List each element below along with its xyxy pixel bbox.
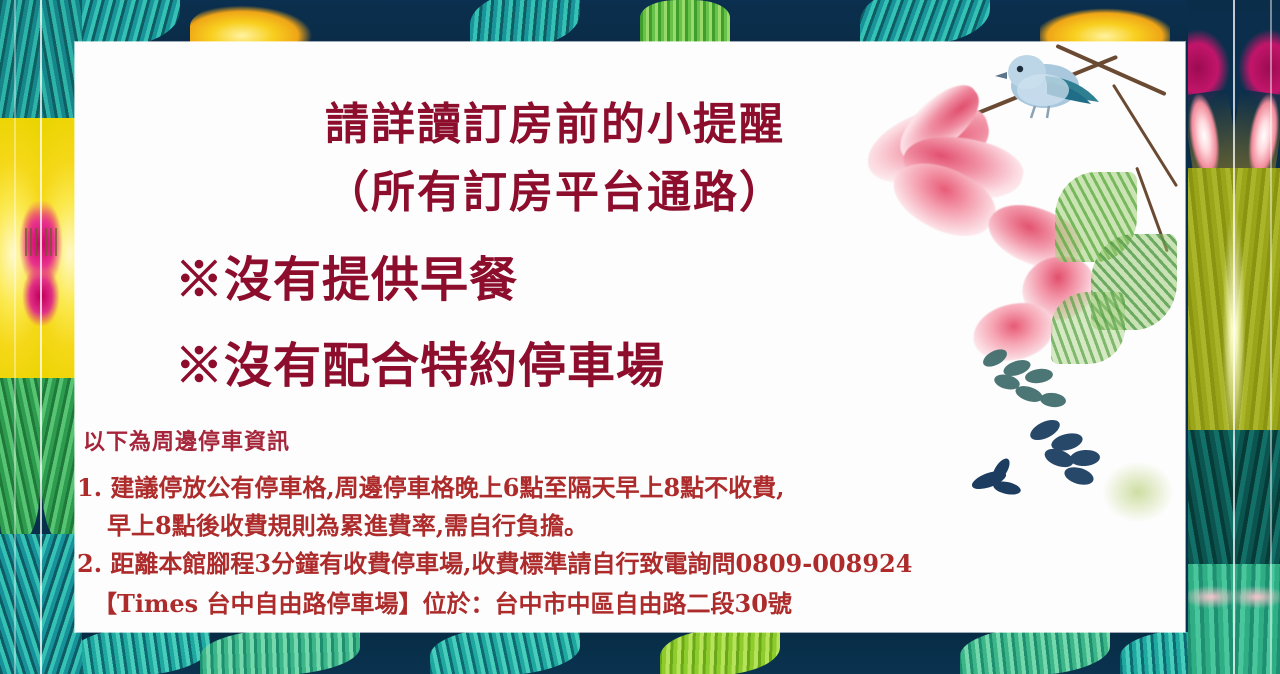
mirror-seam [1270, 0, 1272, 674]
dark-fern-icon [1188, 430, 1234, 580]
notice-card: 請詳讀訂房前的小提醒 （所有訂房平台通路） ※沒有提供早餐 ※沒有配合特約停車場… [75, 42, 1185, 632]
mirror-seam [1233, 0, 1235, 674]
foliage-icon [1051, 292, 1125, 364]
background-band-bottom [0, 632, 1280, 674]
palm-frond-icon [200, 632, 360, 674]
green-leaf-icon [1234, 564, 1280, 674]
palm-frond-icon [470, 0, 580, 44]
palm-frond-icon [660, 632, 780, 674]
yellow-flower-icon [0, 118, 41, 380]
background-band-top [0, 0, 1280, 44]
right-column-half-mirrored [1234, 0, 1280, 674]
parking-note-1-line-2: 早上8點後收費規則為累進費率,需自行負擔。 [107, 506, 588, 541]
foliage-icon [1103, 462, 1173, 522]
olive-leaf-icon [1188, 168, 1234, 438]
fern-leaf-icon [967, 342, 1117, 502]
mirror-seam [14, 0, 16, 674]
olive-leaf-icon [1234, 168, 1280, 438]
palm-frond-icon [0, 0, 41, 122]
parking-note-1-line-1: 1. 建議停放公有停車格,周邊停車格晚上6點至隔天早上8點不收費, [77, 468, 785, 503]
palm-frond-icon [430, 632, 580, 674]
green-leaf-icon [1188, 564, 1234, 674]
parking-note-2: 2. 距離本館腳程3分鐘有收費停車場,收費標準請自行致電詢問0809-00892… [77, 544, 912, 579]
notice-bullet-no-parking: ※沒有配合特約停車場 [175, 326, 665, 396]
poster-canvas: 請詳讀訂房前的小提醒 （所有訂房平台通路） ※沒有提供早餐 ※沒有配合特約停車場… [0, 0, 1280, 674]
tropical-flower-icon [1040, 4, 1170, 44]
palm-frond-icon [0, 534, 41, 674]
left-column-half [0, 0, 41, 674]
parking-lot-address-line: 【Times 台中自由路停車場】位於：台中市中區自由路二段30號 [93, 584, 792, 619]
mirror-seam [40, 0, 42, 674]
green-leaf-icon [0, 378, 41, 538]
parking-info-subheading: 以下為周邊停車資訊 [83, 424, 290, 456]
notice-bullet-no-breakfast: ※沒有提供早餐 [175, 240, 518, 310]
magnolia-flower-icon [970, 300, 1055, 364]
tropical-flower-icon [190, 2, 320, 44]
magnolia-flower-icon [1019, 251, 1097, 324]
dark-fern-icon [1234, 430, 1280, 580]
grass-tuft-icon [640, 0, 730, 44]
foliage-icon [1091, 234, 1177, 330]
right-column-half [1188, 0, 1234, 674]
palm-frond-icon [960, 632, 1110, 674]
palm-frond-icon [70, 632, 210, 674]
page-subtitle: （所有訂房平台通路） [75, 156, 1185, 220]
page-title: 請詳讀訂房前的小提醒 [75, 88, 1185, 152]
palm-frond-icon [860, 0, 990, 44]
